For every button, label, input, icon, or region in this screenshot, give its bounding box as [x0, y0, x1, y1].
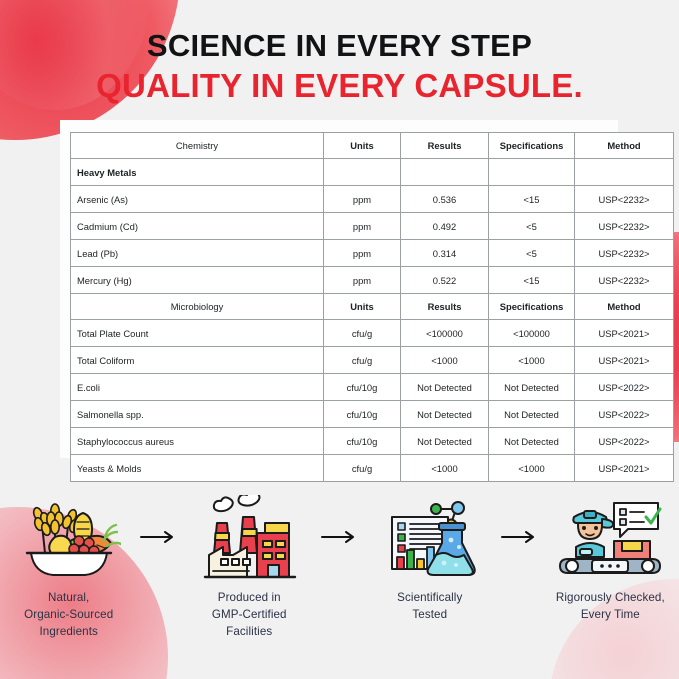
analyte-results: <100000 [401, 320, 489, 347]
feature-item-natural-ingredients: Natural,Organic-SourcedIngredients [0, 494, 137, 640]
headline-line-1: SCIENCE IN EVERY STEP [0, 28, 679, 63]
header-results: Results [401, 133, 489, 159]
quality-inspector-icon [542, 494, 679, 580]
analyte-units: cfu/10g [324, 428, 401, 455]
header-chemistry: Chemistry [71, 133, 324, 159]
analyte-name: Arsenic (As) [71, 186, 324, 213]
analyte-results: 0.492 [401, 213, 489, 240]
factory-icon [181, 494, 318, 580]
analyte-units: cfu/g [324, 347, 401, 374]
header-method: Method [575, 294, 674, 320]
analyte-method: USP<2232> [575, 213, 674, 240]
analyte-results: 0.314 [401, 240, 489, 267]
table-row: Salmonella spp. cfu/10g Not Detected Not… [71, 401, 674, 428]
analyte-results: Not Detected [401, 374, 489, 401]
lab-testing-icon [361, 494, 498, 580]
analyte-name: Yeasts & Molds [71, 455, 324, 482]
table-row: E.coli cfu/10g Not Detected Not Detected… [71, 374, 674, 401]
analyte-name: Salmonella spp. [71, 401, 324, 428]
table-row: Total Plate Count cfu/g <100000 <100000 … [71, 320, 674, 347]
headline-block: SCIENCE IN EVERY STEP QUALITY IN EVERY C… [0, 28, 679, 105]
arrow-1-icon [137, 494, 180, 580]
analyte-results: 0.536 [401, 186, 489, 213]
analyte-results: <1000 [401, 347, 489, 374]
analyte-units: cfu/g [324, 455, 401, 482]
arrow-2-icon [318, 494, 361, 580]
analyte-specifications: <100000 [489, 320, 575, 347]
table-row: Cadmium (Cd) ppm 0.492 <5 USP<2232> [71, 213, 674, 240]
table-row: Staphylococcus aureus cfu/10g Not Detect… [71, 428, 674, 455]
analyte-method: USP<2232> [575, 267, 674, 294]
blank-cell [489, 159, 575, 186]
feature-strip: Natural,Organic-SourcedIngredients [0, 494, 679, 664]
section-row-heavy-metals: Heavy Metals [71, 159, 674, 186]
header-method: Method [575, 133, 674, 159]
analyte-units: ppm [324, 240, 401, 267]
analyte-results: Not Detected [401, 401, 489, 428]
analyte-specifications: <15 [489, 186, 575, 213]
arrow-3-icon [498, 494, 541, 580]
analyte-results: Not Detected [401, 428, 489, 455]
feature-caption: Rigorously Checked,Every Time [542, 590, 679, 624]
section-title-heavy-metals: Heavy Metals [71, 159, 324, 186]
analyte-method: USP<2021> [575, 455, 674, 482]
analyte-method: USP<2021> [575, 320, 674, 347]
analyte-specifications: Not Detected [489, 374, 575, 401]
analyte-method: USP<2022> [575, 374, 674, 401]
analyte-method: USP<2022> [575, 401, 674, 428]
analyte-specifications: <5 [489, 213, 575, 240]
analyte-name: Cadmium (Cd) [71, 213, 324, 240]
table-row: Arsenic (As) ppm 0.536 <15 USP<2232> [71, 186, 674, 213]
analyte-method: USP<2232> [575, 240, 674, 267]
table-row: Mercury (Hg) ppm 0.522 <15 USP<2232> [71, 267, 674, 294]
analyte-name: Staphylococcus aureus [71, 428, 324, 455]
table-row: Yeasts & Molds cfu/g <1000 <1000 USP<202… [71, 455, 674, 482]
analyte-name: Total Plate Count [71, 320, 324, 347]
analyte-specifications: Not Detected [489, 401, 575, 428]
analyte-units: ppm [324, 213, 401, 240]
analyte-units: ppm [324, 186, 401, 213]
header-units: Units [324, 294, 401, 320]
poster-canvas: SCIENCE IN EVERY STEP QUALITY IN EVERY C… [0, 0, 679, 679]
headline-line-2: QUALITY IN EVERY CAPSULE. [0, 67, 679, 105]
analyte-results: <1000 [401, 455, 489, 482]
analyte-specifications: Not Detected [489, 428, 575, 455]
header-specifications: Specifications [489, 133, 575, 159]
blank-cell [575, 159, 674, 186]
certificate-of-analysis-table: Chemistry Units Results Specifications M… [70, 132, 674, 482]
feature-item-rigorously-checked: Rigorously Checked,Every Time [542, 494, 679, 624]
blank-cell [401, 159, 489, 186]
analyte-name: Mercury (Hg) [71, 267, 324, 294]
analyte-units: cfu/10g [324, 374, 401, 401]
header-results: Results [401, 294, 489, 320]
analyte-units: cfu/g [324, 320, 401, 347]
header-units: Units [324, 133, 401, 159]
analyte-results: 0.522 [401, 267, 489, 294]
analyte-specifications: <1000 [489, 455, 575, 482]
feature-item-scientifically-tested: ScientificallyTested [361, 494, 498, 624]
analyte-name: Lead (Pb) [71, 240, 324, 267]
analyte-name: Total Coliform [71, 347, 324, 374]
analyte-units: ppm [324, 267, 401, 294]
feature-item-gmp-facilities: Produced inGMP-CertifiedFacilities [181, 494, 318, 640]
analyte-method: USP<2021> [575, 347, 674, 374]
analyte-name: E.coli [71, 374, 324, 401]
header-specifications: Specifications [489, 294, 575, 320]
fruit-bowl-icon [0, 494, 137, 580]
feature-caption: Produced inGMP-CertifiedFacilities [181, 590, 318, 640]
table-header-chemistry: Chemistry Units Results Specifications M… [71, 133, 674, 159]
header-microbiology: Microbiology [71, 294, 324, 320]
table-row: Total Coliform cfu/g <1000 <1000 USP<202… [71, 347, 674, 374]
analyte-method: USP<2022> [575, 428, 674, 455]
feature-caption: Natural,Organic-SourcedIngredients [0, 590, 137, 640]
blank-cell [324, 159, 401, 186]
table-header-microbiology: Microbiology Units Results Specification… [71, 294, 674, 320]
analyte-specifications: <5 [489, 240, 575, 267]
analyte-method: USP<2232> [575, 186, 674, 213]
analyte-units: cfu/10g [324, 401, 401, 428]
feature-caption: ScientificallyTested [361, 590, 498, 624]
analyte-specifications: <1000 [489, 347, 575, 374]
analyte-specifications: <15 [489, 267, 575, 294]
table-row: Lead (Pb) ppm 0.314 <5 USP<2232> [71, 240, 674, 267]
